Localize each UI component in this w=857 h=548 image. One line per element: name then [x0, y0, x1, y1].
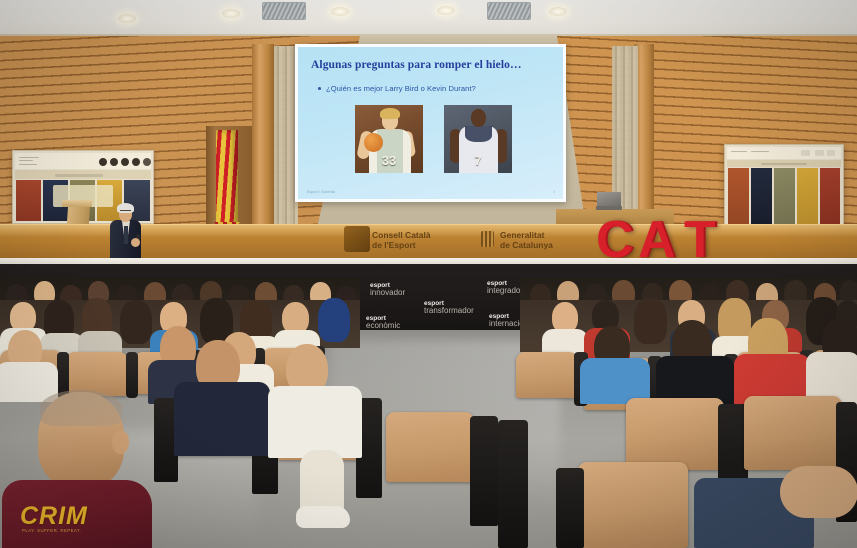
stage-tag-transformador: esport transformador	[424, 300, 474, 316]
seat	[626, 398, 724, 470]
downlight	[222, 9, 240, 18]
player-photo-kevin-durant: 7	[444, 105, 512, 173]
seat-side-panel	[498, 420, 528, 548]
seat-side-panel	[556, 468, 584, 548]
banner-org-line1: Consell Català	[372, 230, 431, 240]
seat	[744, 396, 842, 470]
presentation-slide: Algunas preguntas para romper el hielo… …	[298, 47, 563, 199]
consell-catala-esport-label: Consell Català de l'Esport	[372, 230, 431, 250]
consell-logo-mark	[344, 226, 370, 252]
auditorium-photo: Algunas preguntas para romper el hielo… …	[0, 0, 857, 548]
poster-icon	[132, 158, 140, 166]
poster-column	[16, 180, 41, 221]
air-vent-icon	[262, 2, 306, 20]
jersey-shade	[465, 126, 492, 142]
poster-icon	[143, 158, 151, 166]
air-vent-icon	[487, 2, 531, 20]
senyera-flag-icon	[216, 130, 238, 230]
podium-top	[62, 200, 92, 207]
player-photo-larry-bird: 33	[355, 105, 423, 173]
laptop-screen	[597, 192, 621, 207]
jersey-number: 7	[444, 153, 512, 168]
speaker-hand	[131, 238, 140, 247]
banner-org-line2: de l'Esport	[372, 240, 416, 250]
slide-page-number: 3	[553, 190, 555, 194]
hair	[380, 108, 400, 119]
tshirt-logo-text: CRIM	[20, 502, 88, 531]
poster-icon	[121, 158, 129, 166]
tshirt-sub-text: PLAY. SUFFER. REPEAT.	[22, 528, 81, 533]
projection-screen: Algunas preguntas para romper el hielo… …	[295, 44, 566, 202]
glasses-icon	[120, 210, 131, 214]
shoe-icon	[296, 506, 350, 528]
slide-bullet-text: ¿Quién es mejor Larry Bird o Kevin Duran…	[326, 84, 476, 93]
tag-value: integrador	[487, 287, 523, 296]
basketball-icon	[364, 133, 383, 152]
stage-tag-integrador: esport integrador	[487, 280, 523, 296]
poster-header	[727, 147, 841, 159]
bullet-dot-icon	[318, 87, 321, 90]
downlight	[331, 7, 349, 16]
downlight	[549, 7, 567, 16]
slide-bullet: ¿Quién es mejor Larry Bird o Kevin Duran…	[318, 84, 555, 93]
armrest	[126, 352, 138, 398]
head	[471, 109, 486, 127]
slide-footer: Esport i Societat	[307, 190, 335, 194]
stage-tag-innovador: esport innovador	[370, 282, 405, 298]
tag-value: transformador	[424, 307, 474, 316]
downlight	[118, 14, 136, 23]
generalitat-logo-mark	[481, 231, 494, 247]
slide-title: Algunas preguntas para romper el hielo…	[311, 59, 555, 71]
laptop-keyboard	[596, 206, 622, 210]
seat	[386, 412, 474, 482]
poster-timeline-bar	[727, 160, 841, 167]
seat	[516, 352, 578, 398]
poster-timeline-bar	[15, 170, 151, 179]
seat-side-panel	[470, 416, 498, 526]
jersey-number: 33	[355, 153, 423, 168]
poster-header	[15, 153, 151, 169]
generalitat-catalunya-label: Generalitat de Catalunya	[500, 230, 553, 250]
poster-icon	[110, 158, 118, 166]
foreground-person-tshirt: CRIM PLAY. SUFFER. REPEAT.	[2, 480, 152, 548]
ear	[112, 430, 129, 454]
foreground-person-hair	[40, 390, 122, 426]
speaker-tie	[124, 226, 128, 244]
poster-icon	[99, 158, 107, 166]
seat	[578, 462, 688, 548]
stage-tag-economic: esport econòmic	[366, 315, 400, 331]
banner-gov-line2: de Catalunya	[500, 240, 553, 250]
tag-value: innovador	[370, 289, 405, 298]
downlight	[437, 6, 455, 15]
banner-gov-line1: Generalitat	[500, 230, 544, 240]
